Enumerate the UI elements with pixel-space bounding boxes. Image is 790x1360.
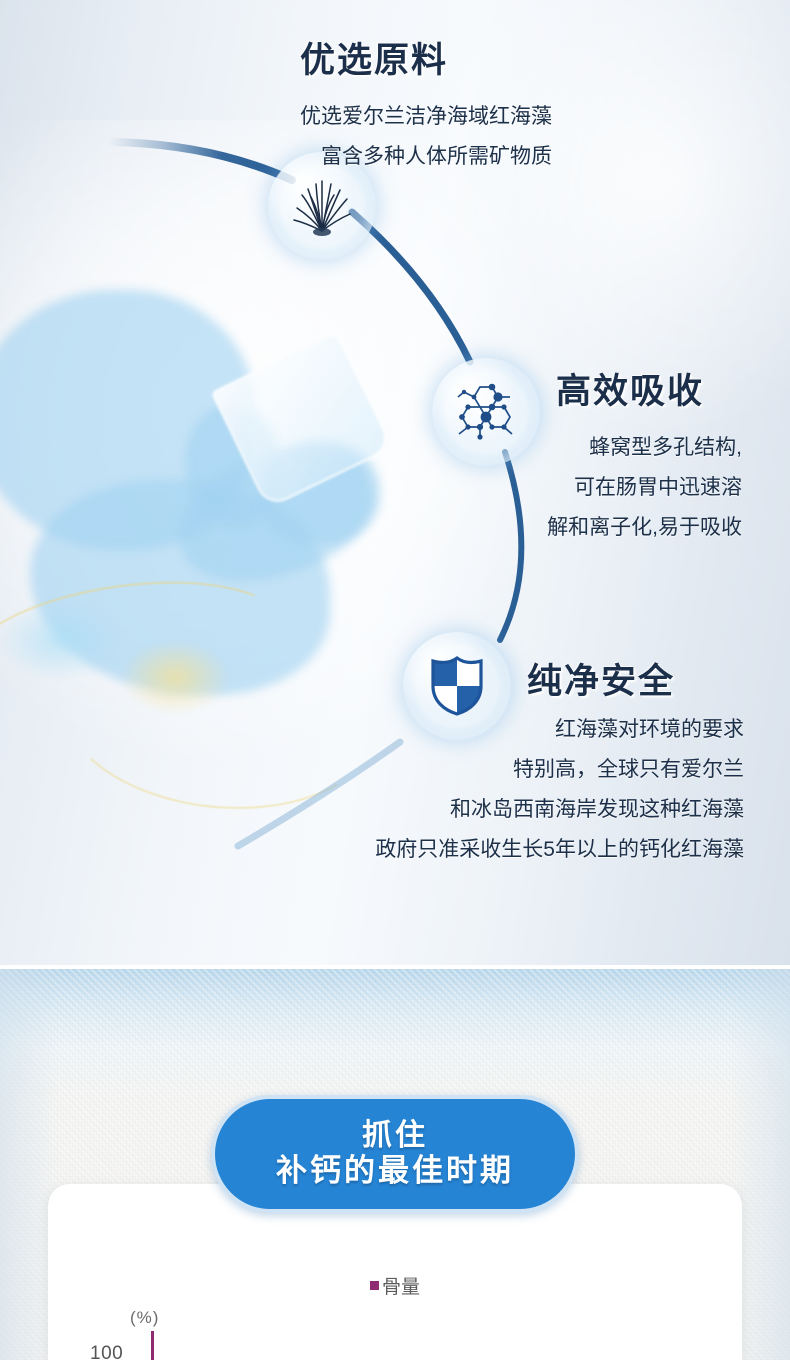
- copy-line: 和冰岛西南海岸发现这种红海藻: [375, 790, 744, 830]
- feature-title-efficient-absorption: 高效吸收: [556, 363, 704, 414]
- feature-copy-premium-ingredient: 优选爱尔兰洁净海域红海藻 富含多种人体所需矿物质: [300, 97, 552, 177]
- copy-line: 可在肠胃中迅速溶: [547, 468, 742, 508]
- molecule-icon: [432, 358, 540, 466]
- copy-line: 解和离子化,易于吸收: [547, 508, 742, 548]
- copy-line: 富含多种人体所需矿物质: [300, 137, 552, 177]
- copy-line: 蜂窝型多孔结构,: [547, 428, 742, 468]
- feature-title-premium-ingredient: 优选原料: [300, 32, 448, 83]
- badge-line-primary: 抓住: [362, 1119, 428, 1154]
- copy-line: 优选爱尔兰洁净海域红海藻: [300, 97, 552, 137]
- legend-swatch-bone-mass: [370, 1281, 379, 1290]
- badge-line-secondary: 补钙的最佳时期: [276, 1153, 514, 1189]
- chart-y-axis-line: [151, 1331, 154, 1360]
- feature-copy-pure-and-safe: 红海藻对环境的要求 特别高，全球只有爱尔兰 和冰岛西南海岸发现这种红海藻 政府只…: [375, 710, 744, 870]
- bubble-efficient-absorption: [432, 358, 540, 466]
- feature-title-pure-and-safe: 纯净安全: [527, 653, 675, 704]
- chart-y-axis-unit-label: (%): [130, 1308, 159, 1328]
- copy-line: 特别高，全球只有爱尔兰: [375, 750, 744, 790]
- copy-line: 红海藻对环境的要求: [375, 710, 744, 750]
- legend-label-bone-mass: 骨量: [382, 1272, 420, 1299]
- chart-legend: 骨量: [370, 1272, 420, 1299]
- product-detail-page: 优选原料 优选爱尔兰洁净海域红海藻 富含多种人体所需矿物质 高效吸收 蜂窝型多孔…: [0, 0, 790, 1360]
- features-section: 优选原料 优选爱尔兰洁净海域红海藻 富含多种人体所需矿物质 高效吸收 蜂窝型多孔…: [0, 0, 790, 968]
- copy-line: 政府只准采收生长5年以上的钙化红海藻: [375, 830, 744, 870]
- best-calcium-time-badge[interactable]: 抓住 补钙的最佳时期: [211, 1095, 579, 1213]
- feature-copy-efficient-absorption: 蜂窝型多孔结构, 可在肠胃中迅速溶 解和离子化,易于吸收: [547, 428, 742, 548]
- chart-y-tick-100: 100: [90, 1343, 123, 1360]
